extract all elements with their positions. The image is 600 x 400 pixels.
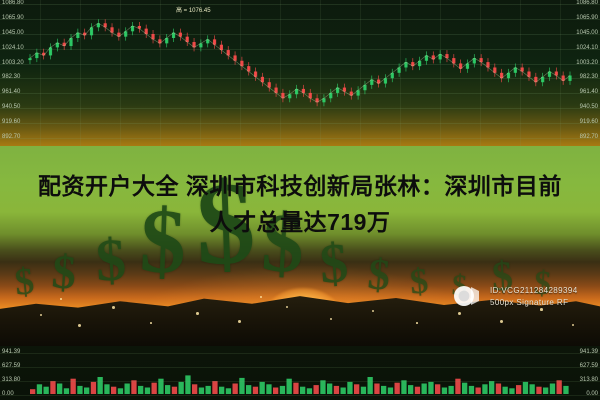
headline-line-1: 配资开户大全 深圳市科技创新局张林：深圳市目前	[38, 173, 562, 199]
chart-annotation: 高 = 1076.45	[176, 5, 211, 14]
sparkle	[196, 312, 199, 315]
sparkle	[330, 318, 332, 320]
axis-tick-label: 1024.10	[2, 45, 24, 51]
axis-tick-label: 1024.10	[576, 45, 598, 51]
bottom-volume-chart: 941.39627.59313.800.00 941.39627.59313.8…	[0, 346, 600, 400]
gridline	[0, 395, 600, 396]
axis-tick-label: 892.70	[2, 134, 20, 140]
watermark-license: 500px Signature RF	[490, 298, 568, 307]
dollar-sign-icon: $	[409, 263, 430, 299]
axis-tick-label: 919.60	[2, 119, 20, 125]
volume-bar-series	[0, 346, 600, 400]
axis-tick-label: 313.80	[2, 377, 20, 383]
headline-line-2: 人才总量达719万	[0, 204, 600, 240]
watermark-id: ID:VCG211284289394	[490, 286, 578, 295]
axis-tick-label: 1003.20	[2, 60, 24, 66]
axis-tick-label: 627.59	[580, 363, 598, 369]
axis-tick-label: 0.00	[2, 391, 14, 397]
screenshot-root: 1086.801065.901045.001024.101003.20982.3…	[0, 0, 600, 400]
axis-tick-label: 313.80	[580, 377, 598, 383]
gridline	[0, 381, 600, 382]
axis-tick-label: 941.39	[2, 349, 20, 355]
watermark: ID:VCG211284289394 500px Signature RF	[452, 280, 596, 314]
axis-tick-label: 982.30	[580, 74, 598, 80]
axis-tick-label: 961.40	[580, 89, 598, 95]
axis-tick-label: 982.30	[2, 74, 20, 80]
axis-tick-label: 627.59	[2, 363, 20, 369]
axis-tick-label: 1045.00	[2, 30, 24, 36]
page-title: 配资开户大全 深圳市科技创新局张林：深圳市目前 人才总量达719万	[0, 168, 600, 240]
sparkle	[150, 322, 152, 324]
sparkle	[112, 306, 115, 309]
dollar-sign-icon: $	[95, 231, 128, 289]
price-line-series	[0, 0, 600, 146]
gridline	[0, 367, 600, 368]
axis-tick-label: 941.39	[580, 349, 598, 355]
axis-tick-label: 1086.80	[576, 0, 598, 6]
gridline	[0, 353, 600, 354]
axis-tick-label: 1003.20	[576, 60, 598, 66]
axis-tick-label: 919.60	[580, 119, 598, 125]
axis-tick-label: 0.00	[586, 391, 598, 397]
axis-tick-label: 940.50	[2, 104, 20, 110]
axis-tick-label: 940.50	[580, 104, 598, 110]
sparkle	[238, 320, 241, 323]
axis-tick-label: 961.40	[2, 89, 20, 95]
axis-tick-label: 1045.00	[576, 30, 598, 36]
top-stock-chart: 1086.801065.901045.001024.101003.20982.3…	[0, 0, 600, 146]
dollar-sign-icon: $	[50, 249, 77, 296]
dollar-sign-icon: $	[13, 263, 36, 301]
axis-tick-label: 1065.90	[576, 15, 598, 21]
axis-tick-label: 892.70	[580, 134, 598, 140]
dollar-sign-icon: $	[318, 237, 350, 292]
visual-china-logo-icon	[452, 283, 482, 309]
sparkle	[40, 314, 42, 316]
axis-tick-label: 1086.80	[2, 0, 24, 6]
axis-tick-label: 1065.90	[2, 15, 24, 21]
dollar-sign-icon: $	[366, 253, 392, 297]
sparkle	[416, 322, 418, 324]
sparkle	[60, 298, 62, 300]
